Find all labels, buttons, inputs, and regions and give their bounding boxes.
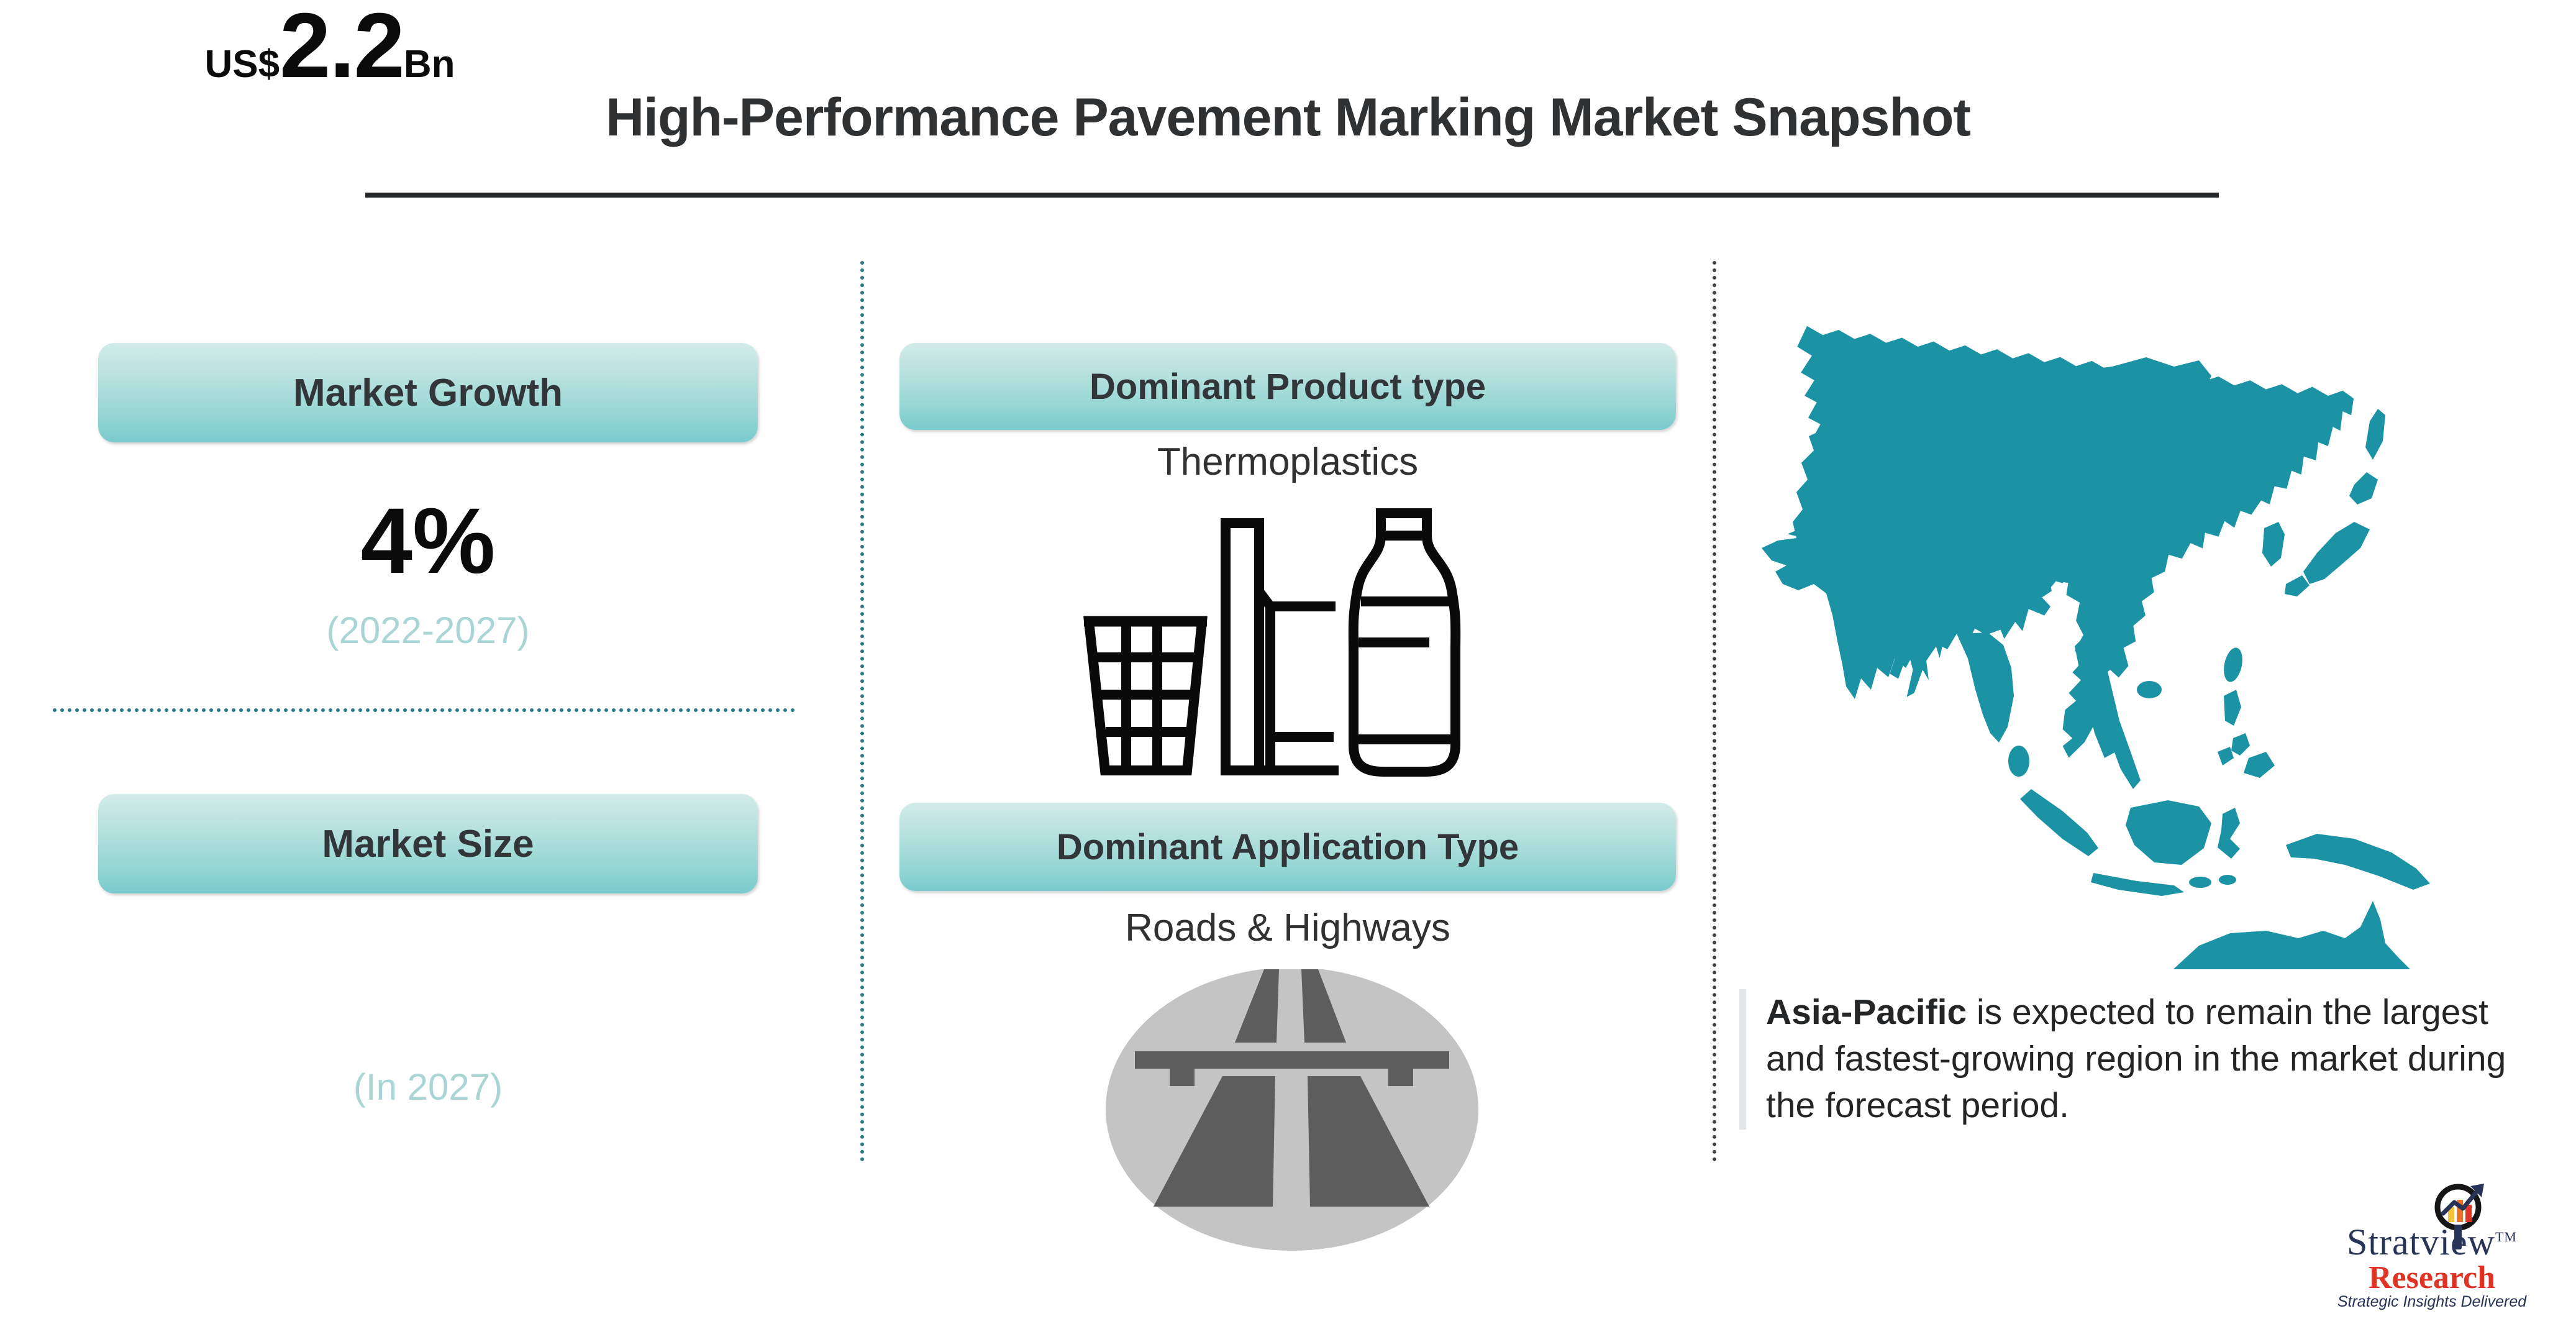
dominant-application-type-pill: Dominant Application Type	[899, 803, 1676, 891]
logo-tagline: Strategic Insights Delivered	[2308, 1293, 2556, 1311]
highway-icon	[1078, 969, 1506, 1261]
logo-word-text: Stratview	[2347, 1222, 2495, 1263]
market-size-pill: Market Size	[98, 794, 758, 893]
market-growth-pill: Market Growth	[98, 343, 758, 442]
asia-pacific-map	[1739, 261, 2553, 969]
dominant-product-type-pill: Dominant Product type	[899, 343, 1676, 430]
market-size-period: (In 2027)	[98, 1066, 758, 1108]
logo-research-text: Research	[2308, 1259, 2556, 1296]
divider-middle-right	[1713, 261, 1716, 1162]
divider-left-middle	[860, 261, 864, 1162]
market-size-value: US$ 2.2 Bn	[0, 0, 660, 92]
page-title: High-Performance Pavement Marking Market…	[0, 87, 2576, 148]
infographic-canvas: High-Performance Pavement Marking Market…	[0, 0, 2576, 1329]
market-size-unit: Bn	[404, 45, 455, 84]
stratview-research-logo[interactable]: StratviewTM Research Strategic Insights …	[2308, 1177, 2556, 1317]
dominant-application-type-value: Roads & Highways	[899, 906, 1676, 950]
title-underline	[365, 193, 2219, 198]
market-size-currency: US$	[204, 45, 280, 84]
logo-tm: TM	[2495, 1229, 2517, 1245]
market-growth-value: 4%	[98, 494, 758, 587]
market-size-number: 2.2	[280, 0, 404, 92]
region-note: Asia-Pacific is expected to remain the l…	[1739, 989, 2547, 1130]
dominant-product-type-value: Thermoplastics	[899, 440, 1676, 484]
region-note-lead: Asia-Pacific	[1766, 992, 1967, 1032]
divider-growth-size	[53, 708, 795, 712]
market-growth-period: (2022-2027)	[98, 609, 758, 652]
plastic-containers-icon	[1078, 497, 1513, 783]
logo-wordmark: StratviewTM	[2308, 1221, 2556, 1264]
